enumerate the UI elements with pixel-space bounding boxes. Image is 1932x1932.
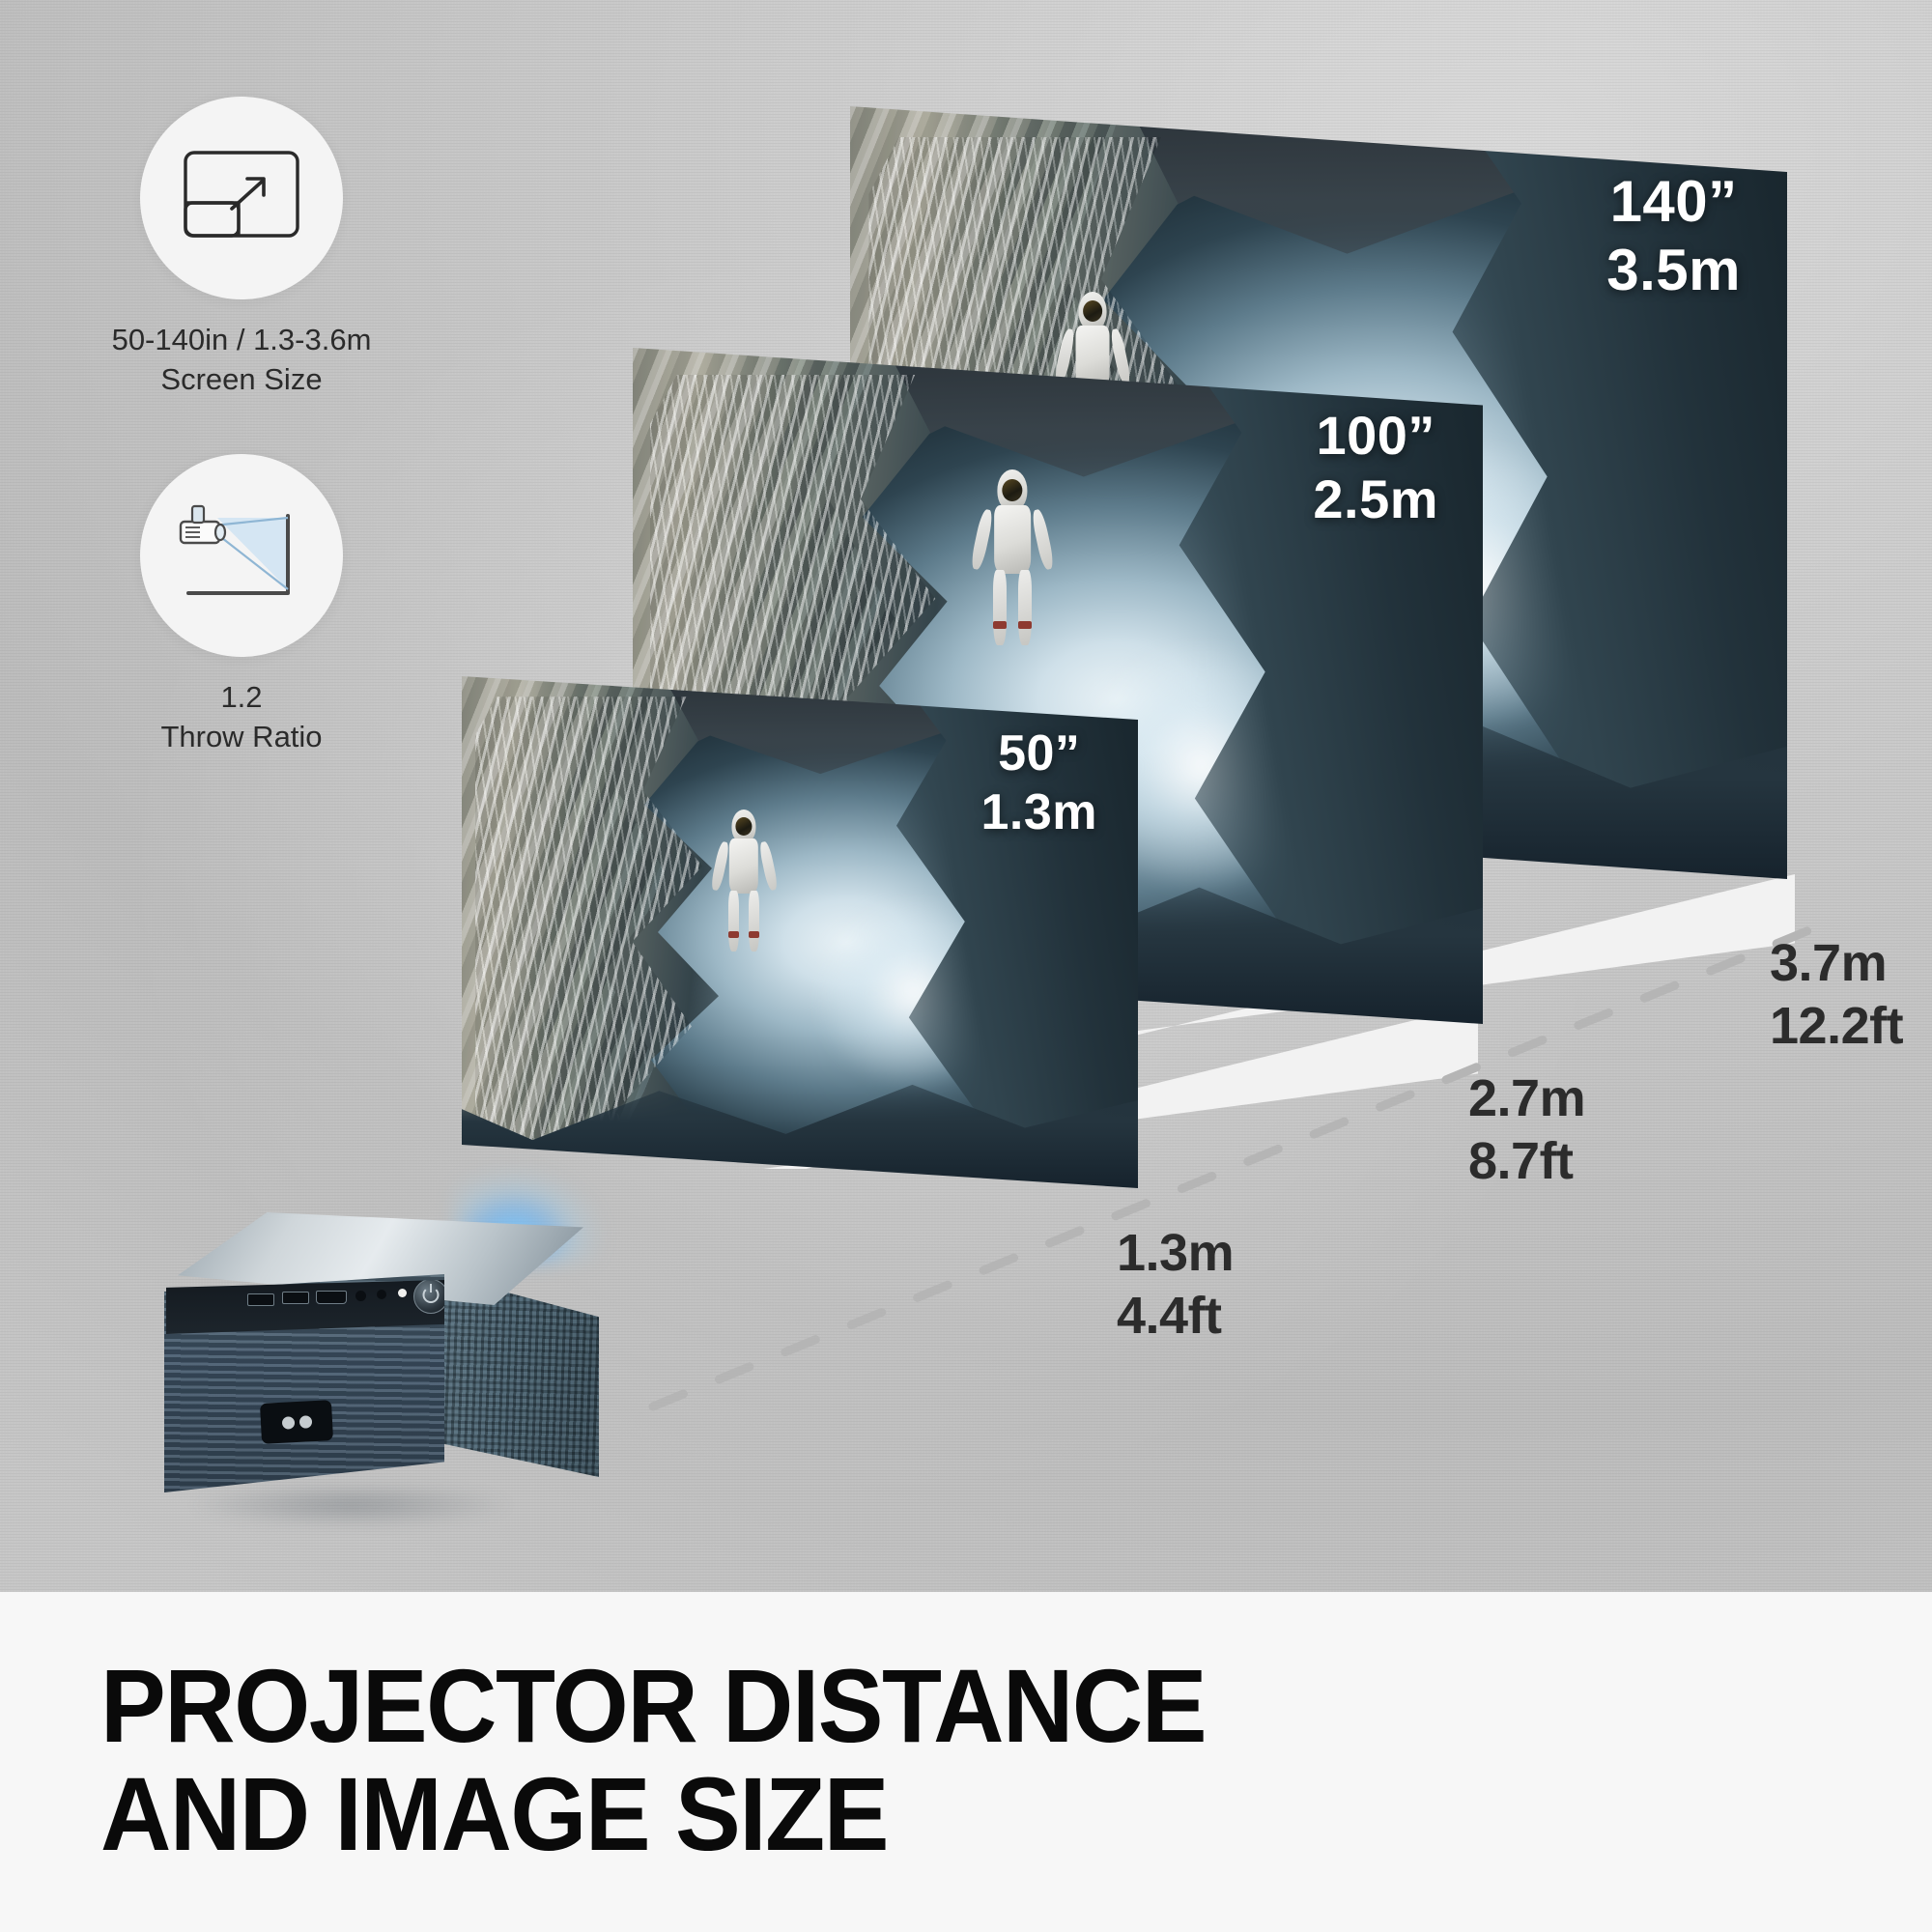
audio-out-jack[interactable]	[355, 1291, 366, 1301]
screen-label-140: 140” 3.5m	[1606, 168, 1741, 305]
socket-pin	[298, 1415, 312, 1429]
footer-band: PROJECTOR DISTANCE AND IMAGE SIZE	[0, 1592, 1932, 1932]
screen-size-caption: 50-140in / 1.3-3.6m Screen Size	[77, 321, 406, 400]
projector-throw-icon	[173, 497, 310, 614]
status-led	[398, 1289, 407, 1297]
screen-resize-icon	[179, 147, 304, 249]
screen-label-100: 100” 2.5m	[1313, 404, 1438, 531]
infographic-canvas: 50-140in / 1.3-3.6m Screen Size 1.2 Thro…	[0, 0, 1932, 1932]
throw-ratio-caption: 1.2 Throw Ratio	[87, 678, 396, 757]
throw-ratio-badge	[140, 454, 343, 657]
power-socket	[260, 1400, 333, 1444]
socket-pin	[281, 1416, 295, 1430]
usb-port[interactable]	[282, 1292, 309, 1304]
usb-port[interactable]	[247, 1293, 274, 1306]
projector-device	[164, 1212, 628, 1531]
feature-throw-ratio: 1.2 Throw Ratio	[87, 454, 396, 757]
screen-size-badge	[140, 97, 343, 299]
distance-label-50: 1.3m 4.4ft	[1117, 1222, 1234, 1348]
astronaut-figure-50	[712, 810, 776, 962]
power-button[interactable]	[413, 1279, 448, 1314]
feature-screen-size: 50-140in / 1.3-3.6m Screen Size	[77, 97, 406, 400]
distance-label-100: 2.7m 8.7ft	[1468, 1067, 1585, 1193]
distance-label-140: 3.7m 12.2ft	[1770, 932, 1903, 1058]
projected-screen-50: 50” 1.3m	[462, 676, 1138, 1188]
screen-label-50: 50” 1.3m	[980, 724, 1097, 843]
av-jack[interactable]	[377, 1290, 386, 1299]
page-title: PROJECTOR DISTANCE AND IMAGE SIZE	[100, 1652, 1206, 1869]
hdmi-port[interactable]	[316, 1291, 347, 1304]
astronaut-figure-100	[973, 469, 1052, 659]
